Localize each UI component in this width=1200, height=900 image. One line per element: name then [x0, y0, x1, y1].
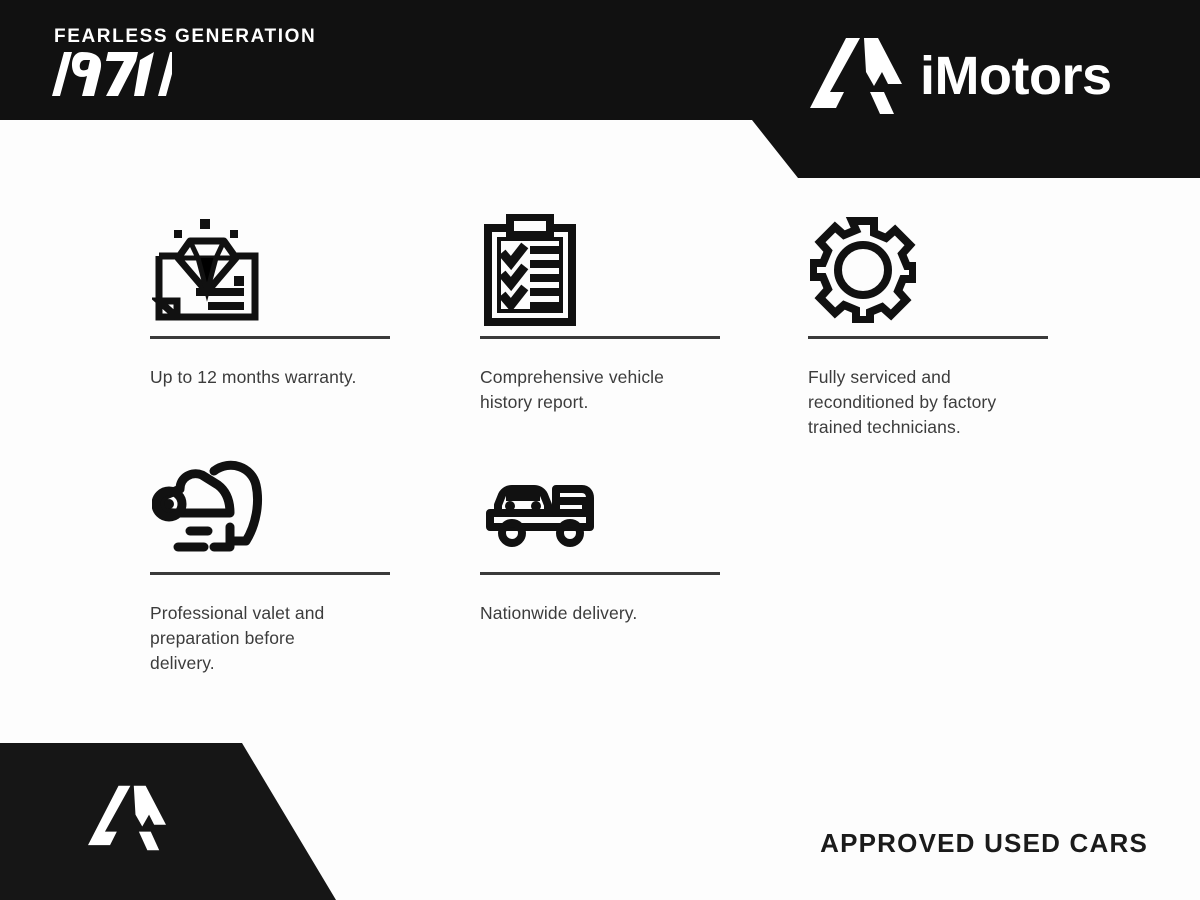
feature-text: Comprehensive vehicle history report. [480, 365, 690, 415]
footer-imotors-chevron-logo-icon [88, 782, 166, 854]
feature-divider [150, 572, 390, 575]
feature-text: Professional valet and preparation befor… [150, 601, 360, 676]
header-background-shape [0, 0, 1200, 178]
feature-text: Up to 12 months warranty. [150, 365, 360, 390]
brand-name: iMotors [920, 49, 1112, 103]
imotors-chevron-logo-icon [810, 38, 902, 114]
feature-icon-wrap [150, 448, 400, 566]
feature-divider [480, 336, 720, 339]
feature-item-warranty: Up to 12 months warranty. [150, 210, 400, 390]
feature-text: Nationwide delivery. [480, 601, 690, 626]
marketing-banner: FEARLESS GENERATION [0, 0, 1200, 900]
car-transporter-truck-icon [482, 465, 594, 549]
vacuum-cleaner-icon [152, 455, 274, 559]
clipboard-checklist-icon [482, 214, 578, 326]
header: FEARLESS GENERATION [0, 0, 1200, 178]
feature-text: Fully serviced and reconditioned by fact… [808, 365, 1018, 440]
feature-icon-wrap [808, 210, 1058, 330]
feature-divider [480, 572, 720, 575]
feature-divider [150, 336, 390, 339]
feature-item-serviced: Fully serviced and reconditioned by fact… [808, 210, 1058, 440]
brand-year-1971 [42, 48, 172, 100]
brand-logo-lockup: iMotors [810, 38, 1112, 114]
feature-item-delivery: Nationwide delivery. [480, 448, 730, 626]
feature-icon-wrap [480, 448, 730, 566]
footer-background-shape [0, 740, 1200, 900]
feature-icon-wrap [150, 210, 400, 330]
footer: APPROVED USED CARS [0, 740, 1200, 900]
feature-divider [808, 336, 1048, 339]
brand-tagline: FEARLESS GENERATION [54, 26, 316, 48]
feature-icon-wrap [480, 210, 730, 330]
gem-certificate-icon [152, 216, 262, 324]
feature-item-valet: Professional valet and preparation befor… [150, 448, 400, 676]
feature-grid: Up to 12 months warranty. [0, 178, 1200, 743]
gear-icon [810, 217, 916, 323]
footer-tagline: APPROVED USED CARS [820, 828, 1148, 859]
feature-item-history-report: Comprehensive vehicle history report. [480, 210, 730, 415]
